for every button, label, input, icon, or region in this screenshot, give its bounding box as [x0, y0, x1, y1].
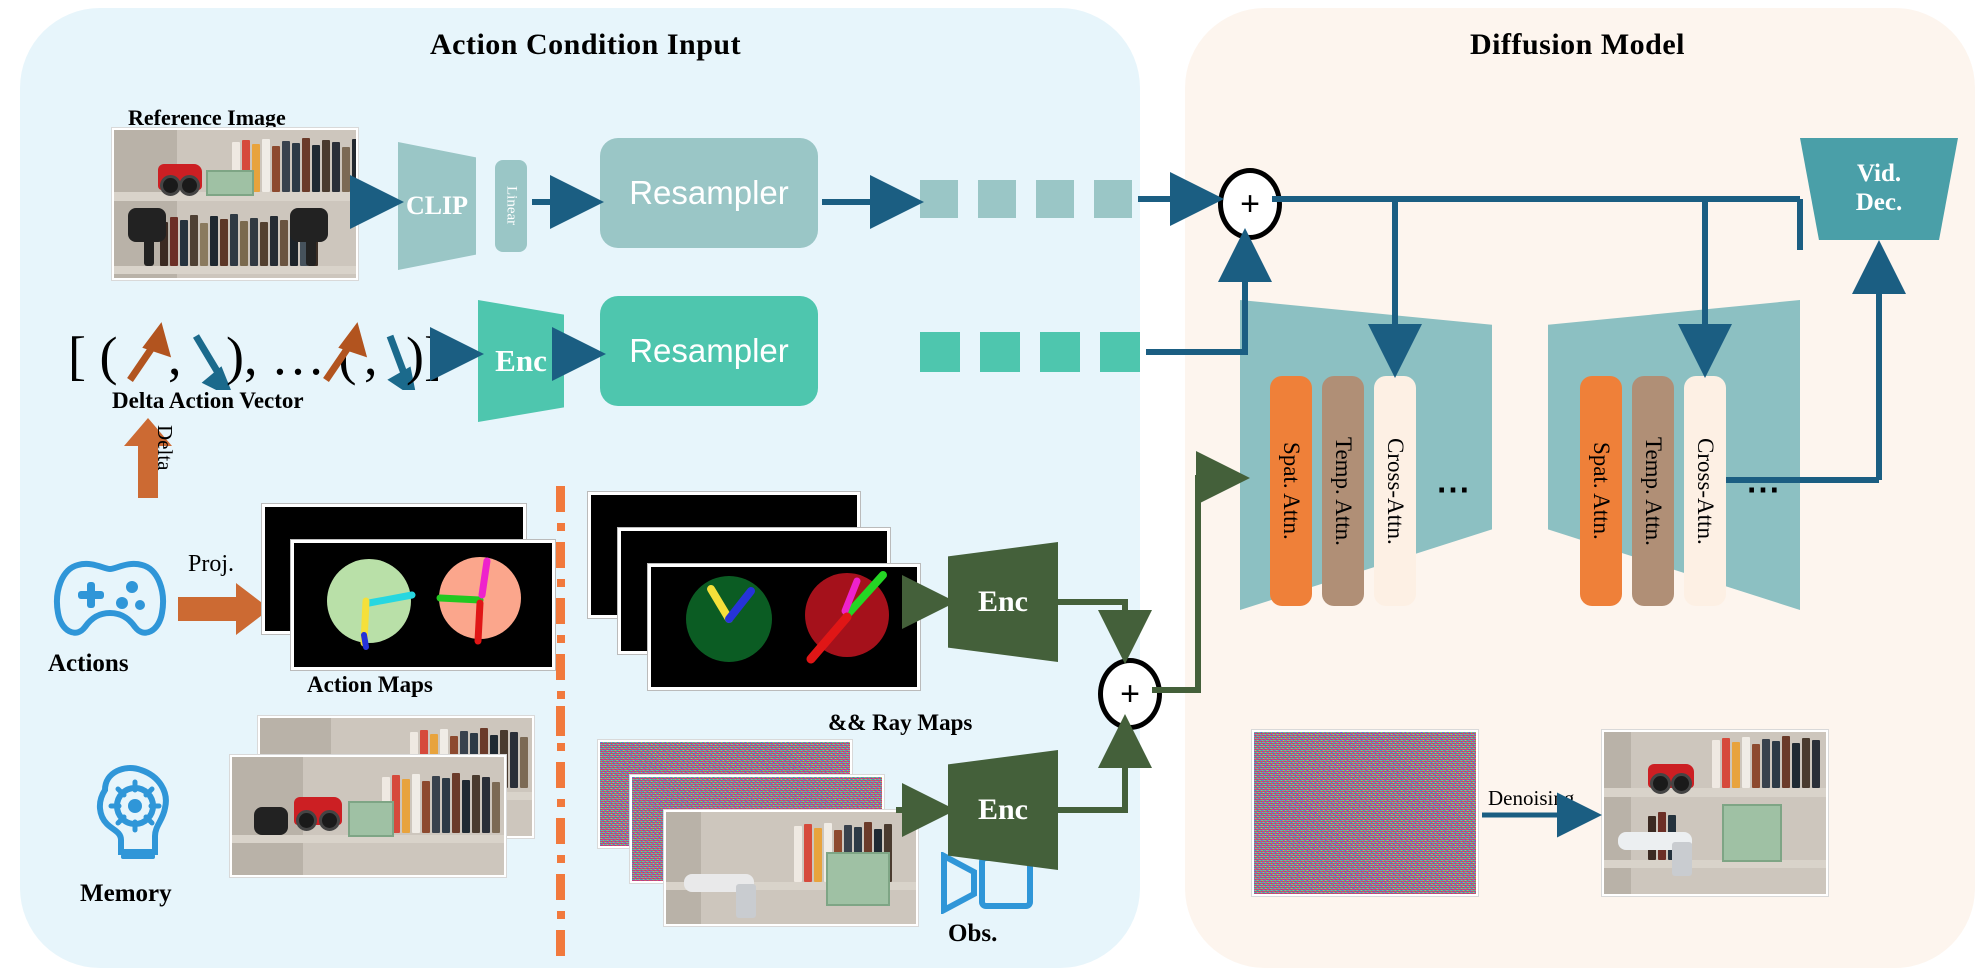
denoising-label: Denoising: [1488, 786, 1574, 811]
image-token-3: [1036, 180, 1074, 218]
image-token-4: [1094, 180, 1132, 218]
obs-clean-frame-front: [664, 810, 918, 926]
obs-encoder-block: Enc: [948, 750, 1058, 870]
svg-text:,: ,: [168, 326, 182, 386]
action-map-frame-front: [291, 540, 555, 670]
brain-gear-icon: [85, 760, 181, 866]
clip-encoder-block: CLIP: [398, 142, 476, 270]
proj-label: Proj.: [188, 551, 234, 578]
spat-attn-block-2[interactable]: Spat. Attn.: [1580, 376, 1622, 606]
ray-map-encoder-block: Enc: [948, 542, 1058, 662]
action-token-1: [920, 332, 960, 372]
temp-attn-label-1: Temp. Attn.: [1330, 437, 1356, 546]
action-maps-label: Action Maps: [307, 672, 433, 698]
token-sum-node: +: [1218, 168, 1282, 240]
divider-bottom: [556, 706, 565, 967]
latent-sum-symbol: +: [1120, 677, 1140, 711]
linear-block: Linear: [495, 160, 527, 252]
memory-label: Memory: [80, 880, 172, 908]
reference-image-photo: [112, 128, 358, 280]
image-token-2: [978, 180, 1016, 218]
clip-label: CLIP: [406, 191, 468, 221]
svg-text:,: ,: [364, 326, 378, 386]
ray-maps-label: && Ray Maps: [828, 710, 972, 736]
left-panel-title: Action Condition Input: [430, 28, 741, 62]
delta-action-vector-caption: Delta Action Vector: [112, 388, 304, 414]
svg-text:[ (: [ (: [68, 326, 117, 386]
linear-label: Linear: [503, 186, 520, 225]
temp-attn-label-2: Temp. Attn.: [1640, 437, 1666, 546]
unet-ellipsis-2: ⋯: [1746, 470, 1783, 510]
video-decoder-line1: Vid.: [1857, 160, 1901, 189]
memory-photo-front: [230, 755, 506, 877]
action-token-3: [1040, 332, 1080, 372]
delta-arrow-label: Delta: [152, 425, 177, 470]
spat-attn-label-2: Spat. Attn.: [1588, 442, 1614, 540]
resampler-action-label: Resampler: [629, 332, 789, 370]
resampler-image-label: Resampler: [629, 174, 789, 212]
spat-attn-block-1[interactable]: Spat. Attn.: [1270, 376, 1312, 606]
cross-attn-label-2: Cross-Attn.: [1692, 438, 1718, 545]
delta-action-vector-expression: [ ( , ), … ( , )]: [68, 318, 438, 390]
actions-label: Actions: [48, 650, 129, 678]
right-panel-title: Diffusion Model: [1470, 28, 1685, 62]
video-decoder-block: Vid. Dec.: [1800, 138, 1958, 240]
action-encoder-block: Enc: [478, 300, 564, 422]
cross-attn-block-1[interactable]: Cross-Attn.: [1374, 376, 1416, 606]
unet-ellipsis-1: ⋯: [1436, 470, 1473, 510]
spat-attn-label-1: Spat. Attn.: [1278, 442, 1304, 540]
video-decoder-line2: Dec.: [1856, 189, 1903, 218]
action-token-4: [1100, 332, 1140, 372]
denoise-input-noisy: [1252, 730, 1478, 896]
resampler-action-block: Resampler: [600, 296, 818, 406]
image-token-1: [920, 180, 958, 218]
enc-ray-label: Enc: [978, 585, 1028, 619]
token-sum-symbol: +: [1240, 187, 1260, 221]
resampler-image-block: Resampler: [600, 138, 818, 248]
enc-action-label: Enc: [495, 343, 547, 379]
svg-text:)]: )]: [406, 326, 438, 386]
proj-arrow: [178, 583, 270, 635]
temp-attn-block-2[interactable]: Temp. Attn.: [1632, 376, 1674, 606]
denoise-output-clean: [1602, 730, 1828, 896]
latent-sum-node: +: [1098, 658, 1162, 730]
cross-attn-block-2[interactable]: Cross-Attn.: [1684, 376, 1726, 606]
action-token-2: [980, 332, 1020, 372]
svg-text:), … (: ), … (: [226, 326, 356, 386]
temp-attn-block-1[interactable]: Temp. Attn.: [1322, 376, 1364, 606]
cross-attn-label-1: Cross-Attn.: [1382, 438, 1408, 545]
ray-map-frame-front: [648, 564, 920, 690]
gamepad-icon: [50, 555, 170, 645]
enc-obs-label: Enc: [978, 793, 1028, 827]
obs-label: Obs.: [948, 920, 997, 948]
